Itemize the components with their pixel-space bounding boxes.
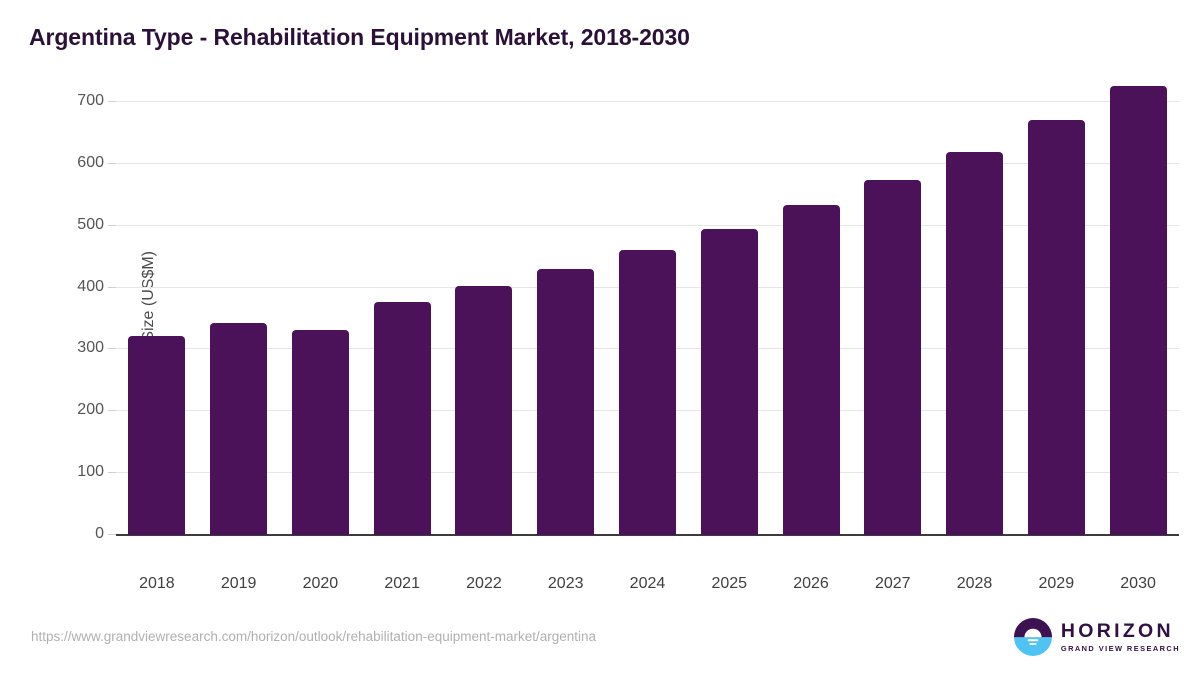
logo-tagline: GRAND VIEW RESEARCH bbox=[1061, 645, 1180, 652]
x-tick-label-2023: 2023 bbox=[525, 561, 607, 593]
brand-logo: HORIZON GRAND VIEW RESEARCH bbox=[1014, 614, 1180, 660]
bar-2022[interactable] bbox=[455, 286, 512, 535]
bar-slot bbox=[280, 101, 362, 535]
bar-slot bbox=[1097, 101, 1179, 535]
bar-slot bbox=[852, 101, 934, 535]
bar-slot bbox=[607, 101, 689, 535]
page-title: Argentina Type - Rehabilitation Equipmen… bbox=[29, 24, 690, 51]
bar-slot bbox=[361, 101, 443, 535]
bar-slot bbox=[688, 101, 770, 535]
x-tick-label-2027: 2027 bbox=[852, 561, 934, 593]
x-tick-label-2025: 2025 bbox=[688, 561, 770, 593]
bar-slot bbox=[116, 101, 198, 535]
bar-2024[interactable] bbox=[619, 250, 676, 535]
y-tick-label: 600 bbox=[44, 154, 104, 172]
y-tick-label: 100 bbox=[44, 463, 104, 481]
x-tick-label-2022: 2022 bbox=[443, 561, 525, 593]
bar-slot bbox=[525, 101, 607, 535]
bar-series bbox=[116, 101, 1179, 535]
chart-page: Argentina Type - Rehabilitation Equipmen… bbox=[0, 0, 1200, 675]
bar-2018[interactable] bbox=[128, 336, 185, 535]
y-tick-label: 0 bbox=[44, 525, 104, 543]
x-tick-label-2018: 2018 bbox=[116, 561, 198, 593]
y-tick-mark bbox=[108, 472, 116, 473]
bar-slot bbox=[934, 101, 1016, 535]
x-tick-label-2019: 2019 bbox=[198, 561, 280, 593]
bar-2021[interactable] bbox=[374, 302, 431, 535]
bar-2028[interactable] bbox=[946, 152, 1003, 536]
bar-2026[interactable] bbox=[783, 205, 840, 535]
x-tick-label-2030: 2030 bbox=[1097, 561, 1179, 593]
bar-2025[interactable] bbox=[701, 229, 758, 535]
y-tick-mark bbox=[108, 163, 116, 164]
y-tick-label: 400 bbox=[44, 278, 104, 296]
x-tick-label-2029: 2029 bbox=[1015, 561, 1097, 593]
x-axis-tick-labels: 2018201920202021202220232024202520262027… bbox=[116, 561, 1179, 593]
bar-2027[interactable] bbox=[864, 180, 921, 535]
x-tick-label-2020: 2020 bbox=[280, 561, 362, 593]
bar-2019[interactable] bbox=[210, 323, 267, 535]
bar-slot bbox=[198, 101, 280, 535]
horizon-sunset-circle-icon bbox=[1014, 618, 1052, 656]
x-tick-label-2026: 2026 bbox=[770, 561, 852, 593]
y-tick-label: 200 bbox=[44, 401, 104, 419]
bar-slot bbox=[443, 101, 525, 535]
bar-2020[interactable] bbox=[292, 330, 349, 535]
y-tick-mark bbox=[108, 101, 116, 102]
y-tick-mark bbox=[108, 534, 116, 535]
y-tick-label: 300 bbox=[44, 339, 104, 357]
bar-slot bbox=[770, 101, 852, 535]
y-tick-mark bbox=[108, 225, 116, 226]
y-tick-mark bbox=[108, 287, 116, 288]
x-tick-label-2024: 2024 bbox=[607, 561, 689, 593]
bar-2030[interactable] bbox=[1110, 86, 1167, 535]
bar-slot bbox=[1015, 101, 1097, 535]
logo-wordmark: HORIZON GRAND VIEW RESEARCH bbox=[1061, 622, 1180, 653]
x-tick-label-2028: 2028 bbox=[934, 561, 1016, 593]
y-tick-mark bbox=[108, 410, 116, 411]
logo-name: HORIZON bbox=[1061, 622, 1180, 642]
x-tick-label-2021: 2021 bbox=[361, 561, 443, 593]
y-tick-mark bbox=[108, 348, 116, 349]
source-url[interactable]: https://www.grandviewresearch.com/horizo… bbox=[31, 629, 596, 644]
y-tick-label: 700 bbox=[44, 92, 104, 110]
bar-2023[interactable] bbox=[537, 269, 594, 535]
y-tick-label: 500 bbox=[44, 216, 104, 234]
plot-area: Market Size (US$M) 010020030040050060070… bbox=[116, 100, 1179, 560]
bar-2029[interactable] bbox=[1028, 120, 1085, 535]
